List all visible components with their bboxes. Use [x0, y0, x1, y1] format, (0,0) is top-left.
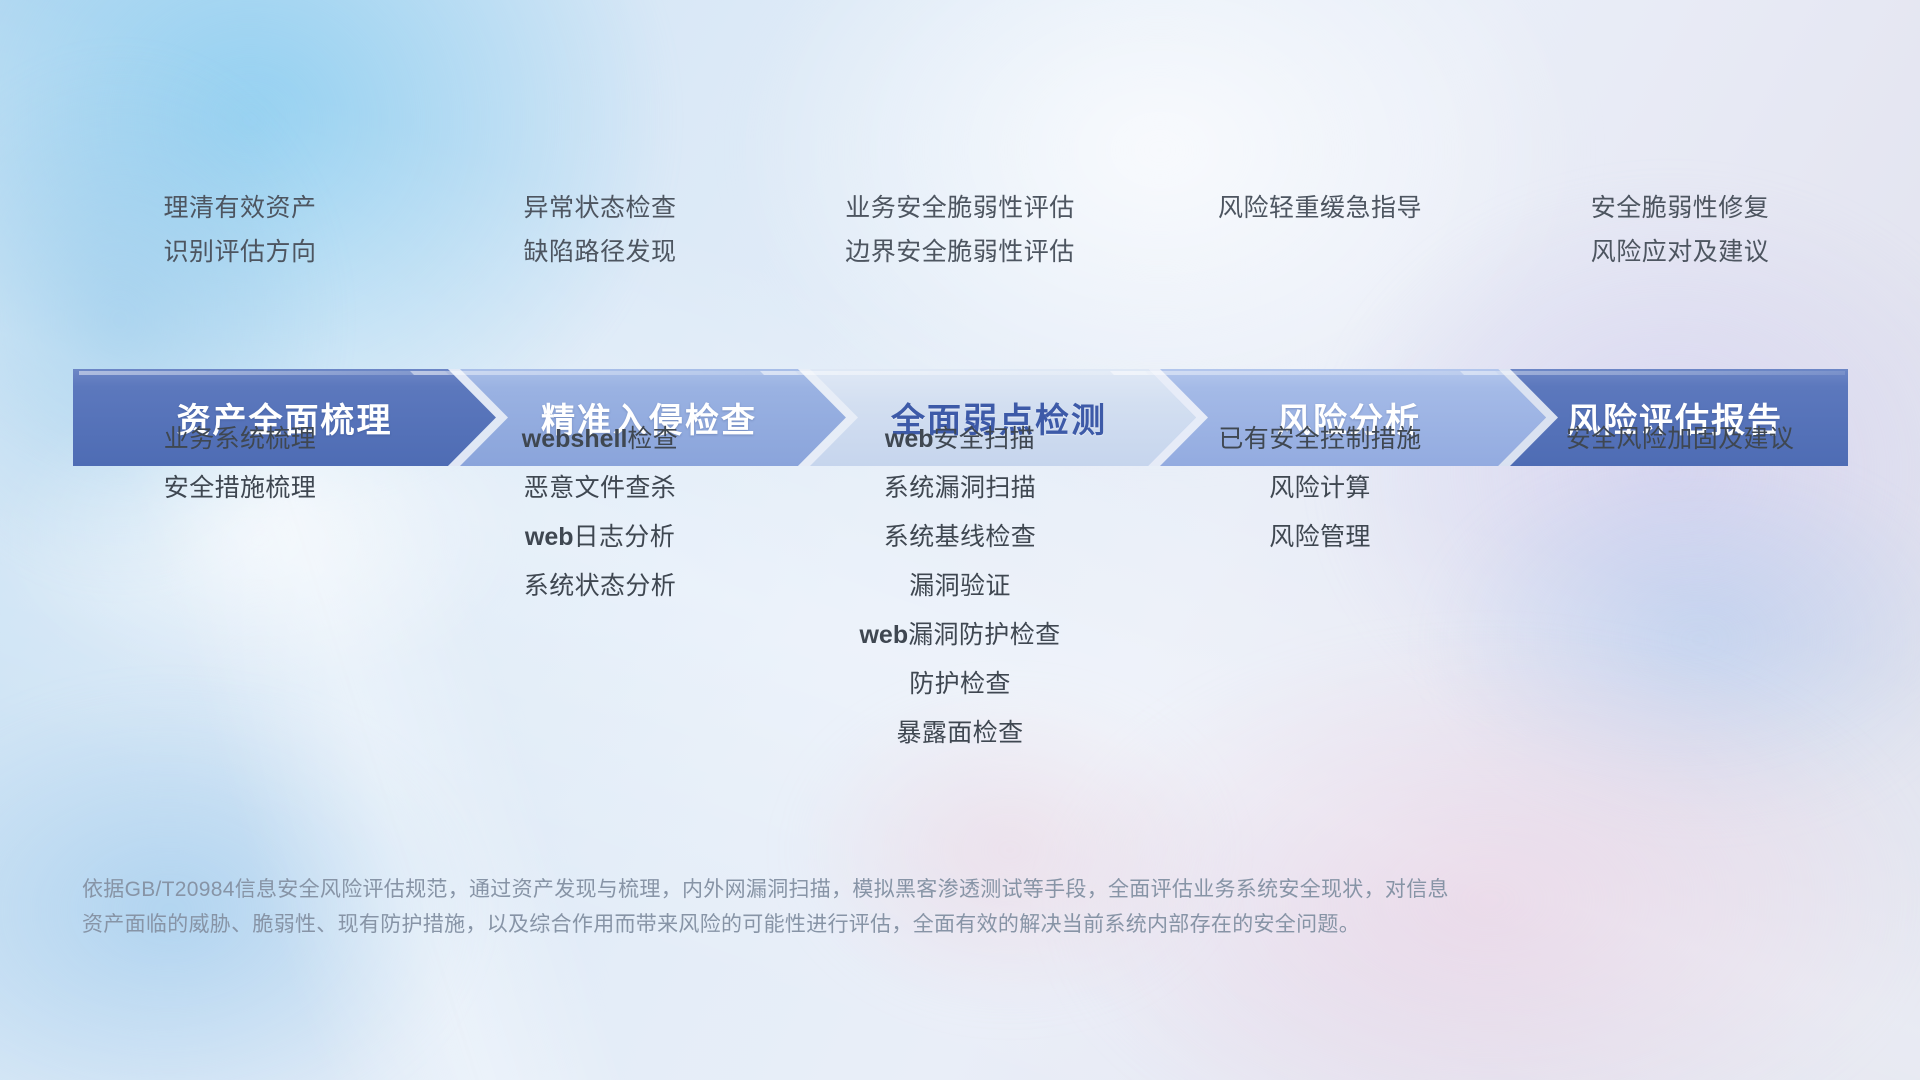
detail-item: web日志分析: [525, 513, 675, 562]
detail-token: 恶意文件查杀: [524, 474, 676, 502]
footer-line-1: 依据GB/T20984信息安全风险评估规范，通过资产发现与梳理，内外网漏洞扫描，…: [82, 872, 1582, 907]
detail-token: 业务系统梳理: [164, 425, 316, 453]
note-item: 理清有效资产: [163, 186, 316, 230]
detail-token: 系统基线检查: [884, 523, 1036, 551]
top-notes-column-intrusion-check: 异常状态检查缺陷路径发现: [420, 186, 780, 274]
detail-token: 系统漏洞扫描: [884, 474, 1036, 502]
detail-item: 暴露面检查: [896, 709, 1023, 758]
detail-column-risk-analysis: 已有安全控制措施风险计算风险管理: [1140, 415, 1500, 758]
detail-item: 已有安全控制措施: [1218, 415, 1421, 464]
detail-item: web漏洞防护检查: [859, 611, 1060, 660]
detail-token: 风险管理: [1269, 523, 1371, 551]
detail-token: 暴露面检查: [896, 719, 1023, 747]
detail-token: 日志分析: [574, 523, 676, 551]
detail-token: 防护检查: [909, 670, 1011, 698]
note-item: 风险应对及建议: [1591, 230, 1770, 274]
detail-item: 安全措施梳理: [164, 464, 316, 513]
detail-item: 系统状态分析: [524, 562, 676, 611]
detail-item: 业务系统梳理: [164, 415, 316, 464]
top-notes-column-weakness-detection: 业务安全脆弱性评估边界安全脆弱性评估: [780, 186, 1140, 274]
detail-item: 系统基线检查: [884, 513, 1036, 562]
footer-description: 依据GB/T20984信息安全风险评估规范，通过资产发现与梳理，内外网漏洞扫描，…: [82, 872, 1582, 942]
note-item: 风险轻重缓急指导: [1218, 186, 1422, 230]
detail-item: 风险计算: [1269, 464, 1371, 513]
detail-token: 检查: [627, 425, 678, 453]
process-diagram: 理清有效资产识别评估方向异常状态检查缺陷路径发现业务安全脆弱性评估边界安全脆弱性…: [0, 0, 1920, 1080]
note-item: 安全脆弱性修复: [1591, 186, 1770, 230]
top-notes-column-asset-inventory: 理清有效资产识别评估方向: [60, 186, 420, 274]
note-item: 缺陷路径发现: [523, 230, 676, 274]
detail-item: 安全风险加固及建议: [1566, 415, 1795, 464]
note-item: 异常状态检查: [523, 186, 676, 230]
detail-item: 风险管理: [1269, 513, 1371, 562]
detail-column-risk-report: 安全风险加固及建议: [1500, 415, 1860, 758]
detail-item: webshell检查: [522, 415, 678, 464]
detail-token: 漏洞防护检查: [908, 621, 1060, 649]
detail-token: 风险计算: [1269, 474, 1371, 502]
note-item: 识别评估方向: [163, 230, 316, 274]
note-item: 业务安全脆弱性评估: [845, 186, 1075, 230]
detail-token: 系统状态分析: [524, 572, 676, 600]
top-notes-column-risk-report: 安全脆弱性修复风险应对及建议: [1500, 186, 1860, 274]
detail-token: 安全扫描: [934, 425, 1036, 453]
detail-item: 恶意文件查杀: [524, 464, 676, 513]
detail-column-weakness-detection: web安全扫描系统漏洞扫描系统基线检查漏洞验证web漏洞防护检查防护检查暴露面检…: [780, 415, 1140, 758]
detail-token: 漏洞验证: [909, 572, 1011, 600]
detail-item: web安全扫描: [885, 415, 1035, 464]
note-item: 边界安全脆弱性评估: [845, 230, 1075, 274]
bottom-details-row: 业务系统梳理安全措施梳理webshell检查恶意文件查杀web日志分析系统状态分…: [60, 415, 1860, 758]
detail-latin-token: web: [885, 425, 934, 453]
detail-token: 安全措施梳理: [164, 474, 316, 502]
detail-token: 安全风险加固及建议: [1566, 425, 1795, 453]
detail-latin-token: webshell: [522, 425, 628, 453]
detail-column-intrusion-check: webshell检查恶意文件查杀web日志分析系统状态分析: [420, 415, 780, 758]
footer-line-2: 资产面临的威胁、脆弱性、现有防护措施，以及综合作用而带来风险的可能性进行评估，全…: [82, 907, 1582, 942]
detail-column-asset-inventory: 业务系统梳理安全措施梳理: [60, 415, 420, 758]
detail-latin-token: web: [859, 621, 908, 649]
top-notes-row: 理清有效资产识别评估方向异常状态检查缺陷路径发现业务安全脆弱性评估边界安全脆弱性…: [60, 186, 1860, 274]
detail-token: 已有安全控制措施: [1218, 425, 1421, 453]
detail-item: 系统漏洞扫描: [884, 464, 1036, 513]
detail-item: 防护检查: [909, 660, 1011, 709]
top-notes-column-risk-analysis: 风险轻重缓急指导: [1140, 186, 1500, 274]
detail-latin-token: web: [525, 523, 574, 551]
detail-item: 漏洞验证: [909, 562, 1011, 611]
